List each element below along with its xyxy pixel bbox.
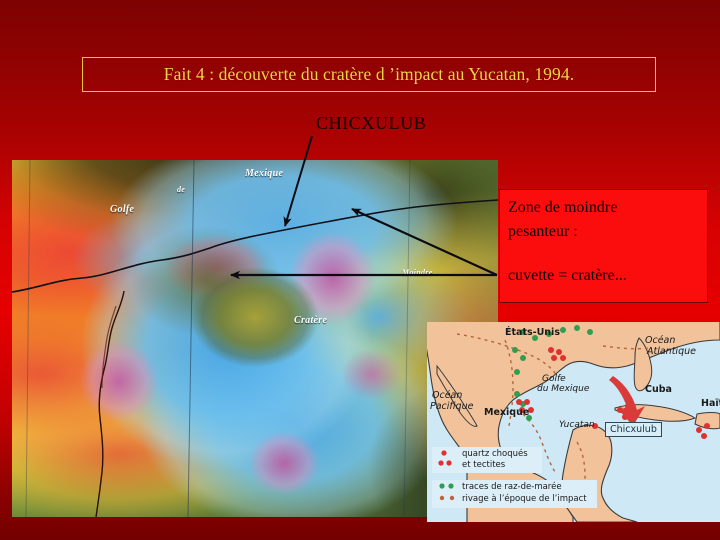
explanation-note-box: Zone de moindre pesanteur : cuvette = cr… (499, 189, 708, 303)
legend-tsunami-line: traces de raz-de-marée (462, 482, 562, 492)
gravity-label-de: de (177, 185, 185, 194)
gravity-label-mexique: Mexique (245, 168, 283, 179)
legend-markers (427, 322, 720, 522)
slide-canvas: Fait 4 : découverte du cratère d ’impact… (0, 0, 720, 540)
slide-title-box: Fait 4 : découverte du cratère d ’impact… (82, 57, 656, 92)
page-title: Fait 4 : découverte du cratère d ’impact… (164, 64, 574, 85)
legend-quartz-line-2: et tectites (462, 460, 505, 470)
locator-inset-map: États-Unis Océan Atlantique Golfe du Mex… (427, 322, 720, 522)
legend-quartz-line-1: quartz choqués (462, 449, 528, 459)
legend-shoreline-line: rivage à l’époque de l’impact (462, 494, 587, 504)
gravity-label-cratere: Cratère (294, 315, 327, 326)
note-line-2: pesanteur : (508, 220, 707, 244)
gravity-anomaly-map: Golfe de Mexique Cratère Moindre (12, 160, 498, 517)
chicxulub-label: CHICXULUB (316, 113, 426, 134)
note-line-1: Zone de moindre (508, 196, 707, 220)
graticule-overlay (12, 160, 498, 517)
gravity-label-golfe: Golfe (110, 204, 134, 215)
gravity-label-moindre: Moindre (402, 268, 433, 277)
note-line-3: cuvette = cratère... (508, 264, 707, 288)
